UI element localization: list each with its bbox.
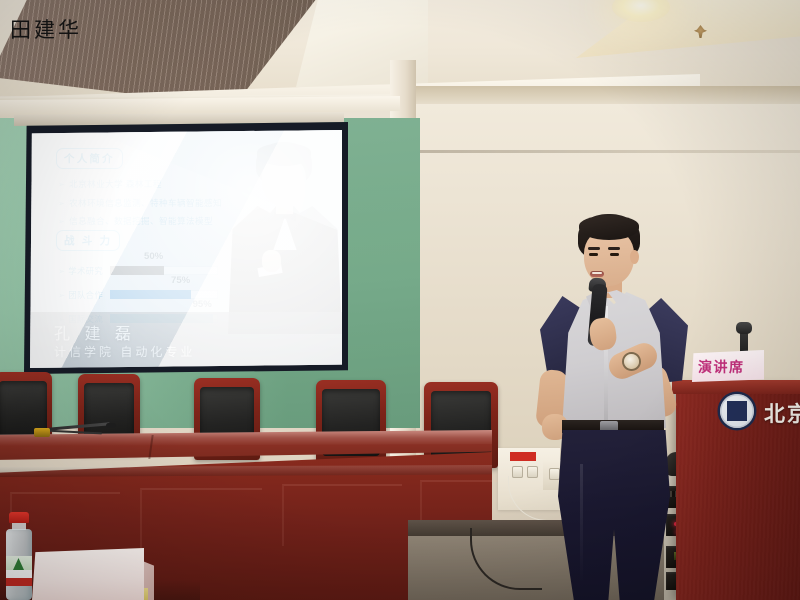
desk-name-card: [32, 548, 144, 600]
screen-glare: [30, 130, 342, 368]
podium-microphone-head-icon: [736, 322, 752, 334]
presentation-slide: 个人简介 ➢北京林业大学 森林工程 ➢农林环境信息监测、特种车辆智能感知 ➢信息…: [30, 130, 342, 368]
desk-name-card-text: 田建华: [10, 14, 82, 44]
wristwatch-icon: [624, 354, 639, 369]
conference-room-photo: 个人简介 ➢北京林业大学 森林工程 ➢农林环境信息监测、特种车辆智能感知 ➢信息…: [0, 0, 800, 600]
gooseneck-microphone-icon: [28, 424, 112, 438]
bottle-cap: [9, 512, 29, 523]
ceiling-cove: [576, 0, 800, 58]
university-seal-icon: [720, 394, 754, 428]
right-wall-recess-shadow: [408, 86, 800, 104]
podium-sign-text: 演讲席: [698, 357, 745, 377]
water-bottle: [4, 512, 34, 600]
speaker-trousers: [558, 430, 670, 600]
speaker-person: [520, 214, 700, 600]
projection-screen: 个人简介 ➢北京林业大学 森林工程 ➢农林环境信息监测、特种车辆智能感知 ➢信息…: [30, 130, 342, 368]
podium-institution-text: 北京: [764, 398, 800, 428]
wall-seam: [408, 150, 800, 153]
